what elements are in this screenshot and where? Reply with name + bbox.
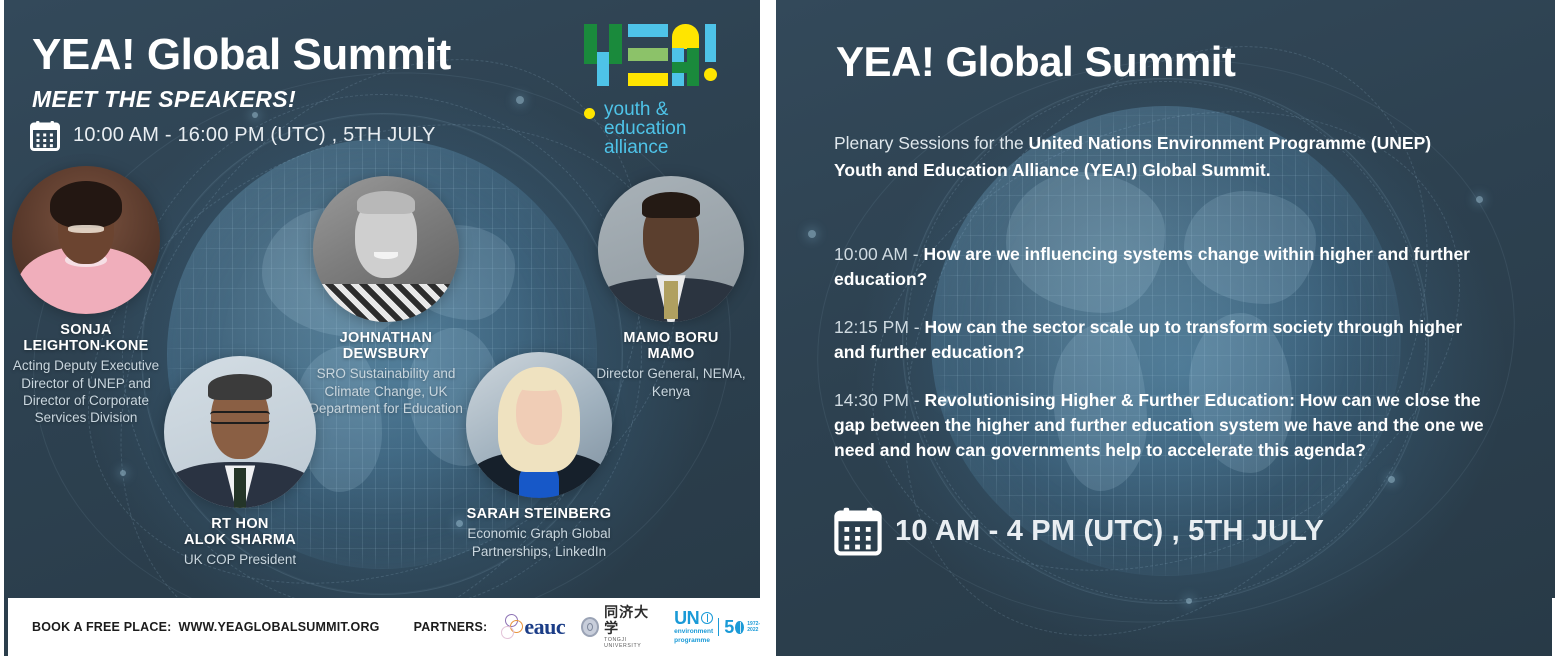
tongji-seal-icon bbox=[581, 617, 599, 637]
datetime-row: 10:00 AM - 16:00 PM (UTC) , 5TH JULY bbox=[30, 120, 436, 151]
page-title: YEA! Global Summit bbox=[32, 30, 451, 80]
tagline-line-1: youth & bbox=[604, 100, 686, 119]
speaker-photo-sarah-steinberg bbox=[466, 352, 612, 498]
unep-line-1: environment bbox=[674, 628, 713, 636]
anniversary-years: 1972-2022 bbox=[747, 621, 760, 633]
datetime-row: 10 AM - 4 PM (UTC) , 5TH JULY bbox=[834, 506, 1324, 556]
yea-tagline: youth & education alliance bbox=[584, 100, 724, 157]
yea-logo-mark bbox=[584, 24, 716, 86]
speaker-photo-alok-sharma bbox=[164, 356, 316, 508]
event-datetime: 10 AM - 4 PM (UTC) , 5TH JULY bbox=[895, 515, 1324, 548]
tagline-line-3: alliance bbox=[604, 138, 686, 157]
session-question: How are we influencing systems change wi… bbox=[834, 244, 1470, 289]
intro-paragraph: Plenary Sessions for the United Nations … bbox=[834, 130, 1454, 183]
speaker-card: RT HON ALOK SHARMA UK COP President bbox=[158, 356, 322, 569]
unep-globe-icon bbox=[701, 612, 713, 624]
poster-stage: YEA! Global Summit MEET THE SPEAKERS! 10… bbox=[0, 0, 1559, 656]
speaker-role: UK COP President bbox=[158, 551, 322, 568]
eauc-wordmark: eauc bbox=[524, 614, 565, 640]
eauc-rings-icon bbox=[501, 614, 523, 640]
speaker-name: RT HON ALOK SHARMA bbox=[158, 516, 322, 548]
unep-un-wordmark: UN bbox=[674, 609, 713, 627]
unep-50-anniversary: 5 1972-2022 bbox=[718, 618, 760, 636]
tongji-chinese-name: 同济大学 bbox=[604, 605, 649, 637]
tagline-line-2: education bbox=[604, 119, 686, 138]
unep-line-2: programme bbox=[674, 637, 713, 645]
partners-label: PARTNERS: bbox=[414, 620, 488, 634]
tongji-university-logo: 同济大学 TONGJI UNIVERSITY bbox=[581, 605, 658, 648]
unep-logo: UN environment programme 5 1972-2022 bbox=[674, 609, 760, 644]
partner-logos: eauc 同济大学 TONGJI UNIVERSITY UN bbox=[501, 605, 760, 648]
book-url[interactable]: WWW.YEAGLOBALSUMMIT.ORG bbox=[178, 620, 379, 634]
footer-bar: BOOK A FREE PLACE: WWW.YEAGLOBALSUMMIT.O… bbox=[1552, 598, 1555, 656]
footer-bar: BOOK A FREE PLACE: WWW.YEAGLOBALSUMMIT.O… bbox=[8, 598, 760, 656]
yellow-dot-icon bbox=[584, 108, 595, 119]
speaker-photo-sonja-leighton-kone bbox=[12, 166, 160, 314]
speaker-card: SONJA LEIGHTON-KONE Acting Deputy Execut… bbox=[10, 166, 162, 427]
session-item: 14:30 PM - Revolutionising Higher & Furt… bbox=[834, 388, 1494, 464]
calendar-icon bbox=[834, 506, 882, 556]
subtitle: MEET THE SPEAKERS! bbox=[32, 86, 296, 113]
session-time: 14:30 PM - bbox=[834, 390, 924, 410]
right-poster-panel: YEA! Global Summit Plenary Sessions for … bbox=[776, 0, 1555, 656]
event-datetime: 10:00 AM - 16:00 PM (UTC) , 5TH JULY bbox=[73, 124, 436, 147]
speaker-photo-mamo-boru-mamo bbox=[598, 176, 744, 322]
page-title: YEA! Global Summit bbox=[836, 38, 1235, 86]
anniversary-zero-icon bbox=[735, 621, 744, 634]
session-question: How can the sector scale up to transform… bbox=[834, 317, 1462, 362]
book-label: BOOK A FREE PLACE: bbox=[32, 620, 171, 634]
speaker-name: JOHNATHAN DEWSBURY bbox=[296, 330, 476, 362]
intro-prefix: Plenary Sessions for the bbox=[834, 133, 1029, 153]
session-time: 10:00 AM - bbox=[834, 244, 924, 264]
speaker-card: JOHNATHAN DEWSBURY SRO Sustainability an… bbox=[296, 176, 476, 417]
speaker-card: SARAH STEINBERG Economic Graph Global Pa… bbox=[454, 352, 624, 560]
speaker-name: SONJA LEIGHTON-KONE bbox=[10, 322, 162, 354]
speaker-role: Acting Deputy Executive Director of UNEP… bbox=[10, 357, 162, 426]
left-poster-panel: YEA! Global Summit MEET THE SPEAKERS! 10… bbox=[4, 0, 760, 656]
session-time: 12:15 PM - bbox=[834, 317, 924, 337]
yea-logo: youth & education alliance bbox=[584, 24, 724, 157]
session-item: 10:00 AM - How are we influencing system… bbox=[834, 242, 1494, 292]
session-item: 12:15 PM - How can the sector scale up t… bbox=[834, 315, 1494, 365]
speaker-photo-johnathan-dewsbury bbox=[313, 176, 459, 322]
calendar-icon bbox=[30, 120, 60, 151]
eauc-logo: eauc bbox=[501, 614, 565, 640]
speaker-name: SARAH STEINBERG bbox=[454, 506, 624, 522]
speaker-role: Economic Graph Global Partnerships, Link… bbox=[454, 525, 624, 560]
speaker-role: SRO Sustainability and Climate Change, U… bbox=[296, 365, 476, 417]
tongji-english-name: TONGJI UNIVERSITY bbox=[604, 638, 658, 648]
session-question: Revolutionising Higher & Further Educati… bbox=[834, 390, 1484, 460]
